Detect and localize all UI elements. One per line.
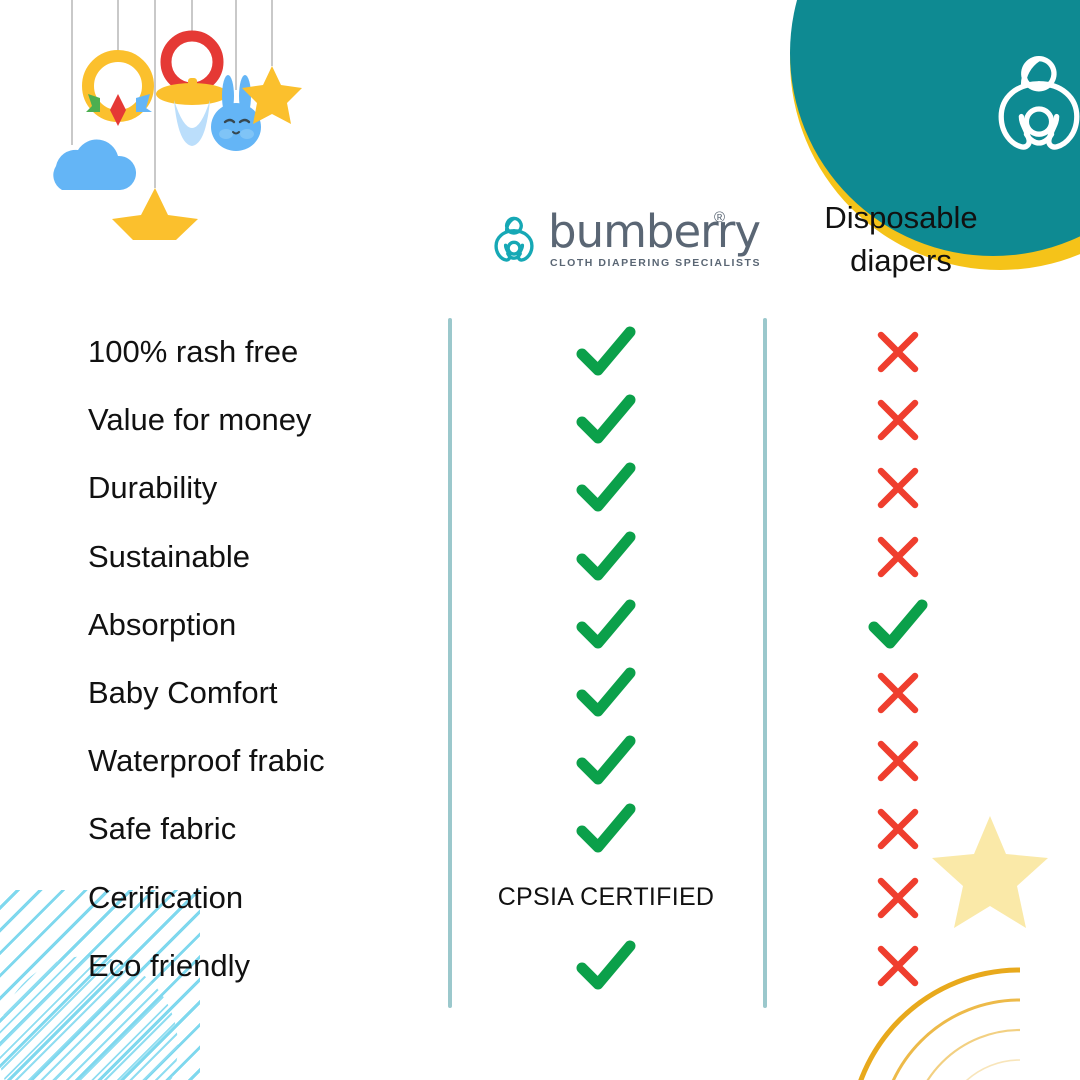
column-header-line-1: Disposable — [770, 196, 1032, 239]
check-icon — [576, 803, 636, 855]
check-icon — [576, 940, 636, 992]
feature-label: Absorption — [88, 591, 236, 659]
cross-icon — [875, 943, 921, 989]
table-row: Baby Comfort — [0, 659, 1080, 727]
cell-bumberry — [449, 454, 763, 522]
brand-wordmark: bumberry — [548, 203, 760, 261]
feature-label: Baby Comfort — [88, 659, 278, 727]
table-row: CerificationCPSIA CERTIFIED — [0, 864, 1080, 932]
comparison-rows: 100% rash freeValue for moneyDurabilityS… — [0, 318, 1080, 1000]
cell-disposable — [767, 727, 1029, 795]
cross-icon — [875, 534, 921, 580]
cell-bumberry — [449, 659, 763, 727]
cell-bumberry: CPSIA CERTIFIED — [449, 864, 763, 932]
cross-icon — [875, 738, 921, 784]
check-icon — [576, 326, 636, 378]
column-header-disposable: Disposable diapers — [770, 196, 1032, 282]
table-row: Eco friendly — [0, 932, 1080, 1000]
check-icon — [576, 599, 636, 651]
feature-label: 100% rash free — [88, 318, 298, 386]
check-icon — [576, 394, 636, 446]
cell-disposable — [767, 386, 1029, 454]
cell-bumberry — [449, 523, 763, 591]
table-row: Value for money — [0, 386, 1080, 454]
cross-icon — [875, 465, 921, 511]
cell-bumberry — [449, 727, 763, 795]
table-header: bumberry ® CLOTH DIAPERING SPECIALISTS D… — [0, 0, 1080, 318]
feature-label: Sustainable — [88, 523, 250, 591]
check-icon — [576, 735, 636, 787]
cell-disposable — [767, 932, 1029, 1000]
cell-disposable — [767, 864, 1029, 932]
table-row: Waterproof frabic — [0, 727, 1080, 795]
cell-disposable — [767, 523, 1029, 591]
cell-disposable — [767, 454, 1029, 522]
feature-label: Cerification — [88, 864, 243, 932]
check-icon — [868, 599, 928, 651]
cross-icon — [875, 329, 921, 375]
table-row: 100% rash free — [0, 318, 1080, 386]
cross-icon — [875, 806, 921, 852]
cell-disposable — [767, 318, 1029, 386]
table-row: Absorption — [0, 591, 1080, 659]
mother-and-child-icon — [486, 209, 542, 275]
feature-label: Durability — [88, 454, 217, 522]
table-row: Durability — [0, 454, 1080, 522]
cell-bumberry — [449, 318, 763, 386]
check-icon — [576, 462, 636, 514]
cross-icon — [875, 875, 921, 921]
feature-label: Eco friendly — [88, 932, 250, 1000]
bumberry-logo: bumberry ® CLOTH DIAPERING SPECIALISTS — [486, 205, 736, 283]
feature-label: Waterproof frabic — [88, 727, 325, 795]
cell-disposable — [767, 795, 1029, 863]
feature-label: Safe fabric — [88, 795, 236, 863]
column-header-line-2: diapers — [770, 239, 1032, 282]
brand-tagline: CLOTH DIAPERING SPECIALISTS — [550, 257, 761, 269]
comparison-infographic: bumberry ® CLOTH DIAPERING SPECIALISTS D… — [0, 0, 1080, 1080]
cross-icon — [875, 670, 921, 716]
cell-disposable — [767, 659, 1029, 727]
table-row: Sustainable — [0, 523, 1080, 591]
cell-disposable — [767, 591, 1029, 659]
feature-label: Value for money — [88, 386, 311, 454]
cell-bumberry — [449, 591, 763, 659]
registered-mark: ® — [714, 209, 725, 226]
check-icon — [576, 531, 636, 583]
table-row: Safe fabric — [0, 795, 1080, 863]
cell-bumberry — [449, 932, 763, 1000]
cell-bumberry — [449, 795, 763, 863]
cross-icon — [875, 397, 921, 443]
certification-text: CPSIA CERTIFIED — [498, 883, 715, 912]
check-icon — [576, 667, 636, 719]
cell-bumberry — [449, 386, 763, 454]
